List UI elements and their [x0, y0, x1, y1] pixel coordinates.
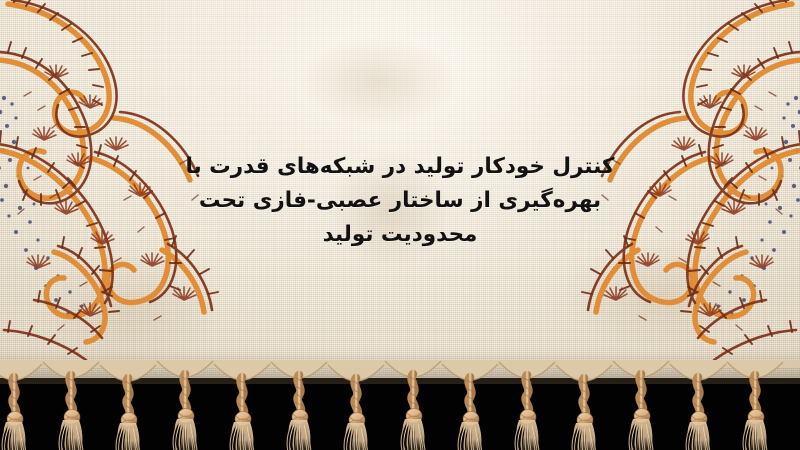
title-line-1: کنترل خودکار تولید در شبکه‌های قدرت با: [0, 150, 800, 184]
fabric-stain: [560, 240, 760, 350]
slide-canvas: کنترل خودکار تولید در شبکه‌های قدرت با ب…: [0, 0, 800, 450]
title-line-2: بهره‌گیری از ساختار عصبی-فازی تحت: [0, 184, 800, 218]
fabric-hem-shadow: [0, 350, 800, 384]
fabric-stain: [300, 36, 460, 126]
title-line-3: محدودیت تولید: [0, 218, 800, 252]
slide-title: کنترل خودکار تولید در شبکه‌های قدرت با ب…: [0, 150, 800, 252]
